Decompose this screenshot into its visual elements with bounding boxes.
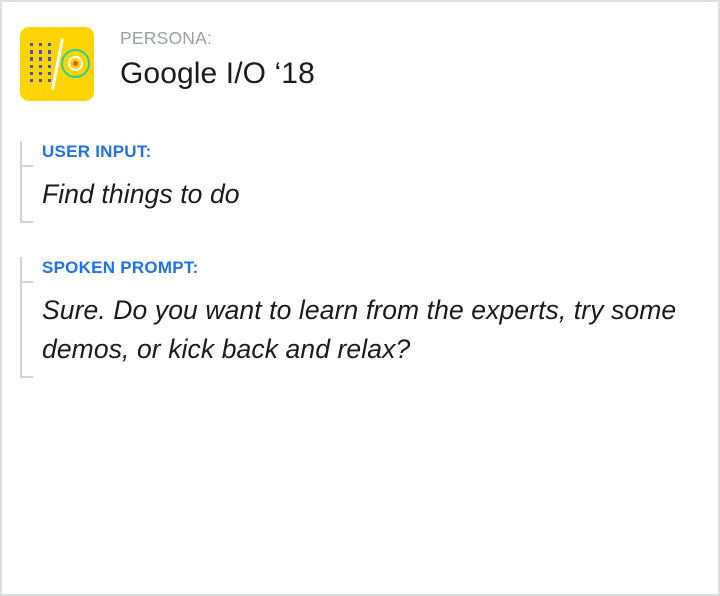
- spoken-prompt-text: Sure. Do you want to learn from the expe…: [42, 283, 682, 378]
- logo-target-circle-icon: [61, 49, 90, 78]
- google-io-logo: [20, 27, 94, 101]
- persona-header: PERSONA: Google I/O ‘18: [20, 27, 315, 101]
- user-input-text-bracket: Find things to do: [20, 167, 240, 223]
- persona-title: Google I/O ‘18: [120, 54, 315, 94]
- user-input-text: Find things to do: [42, 167, 240, 223]
- spoken-prompt-label-bracket: SPOKEN PROMPT:: [20, 257, 682, 283]
- persona-card: PERSONA: Google I/O ‘18 USER INPUT: Find…: [0, 0, 720, 596]
- user-input-label: USER INPUT:: [42, 141, 240, 167]
- user-input-label-bracket: USER INPUT:: [20, 141, 240, 167]
- spoken-prompt-text-bracket: Sure. Do you want to learn from the expe…: [20, 283, 682, 378]
- spoken-prompt-block: SPOKEN PROMPT: Sure. Do you want to lear…: [20, 257, 682, 378]
- persona-text-group: PERSONA: Google I/O ‘18: [120, 27, 315, 94]
- user-input-block: USER INPUT: Find things to do: [20, 141, 240, 223]
- spoken-prompt-label: SPOKEN PROMPT:: [42, 257, 682, 283]
- persona-label: PERSONA:: [120, 27, 315, 49]
